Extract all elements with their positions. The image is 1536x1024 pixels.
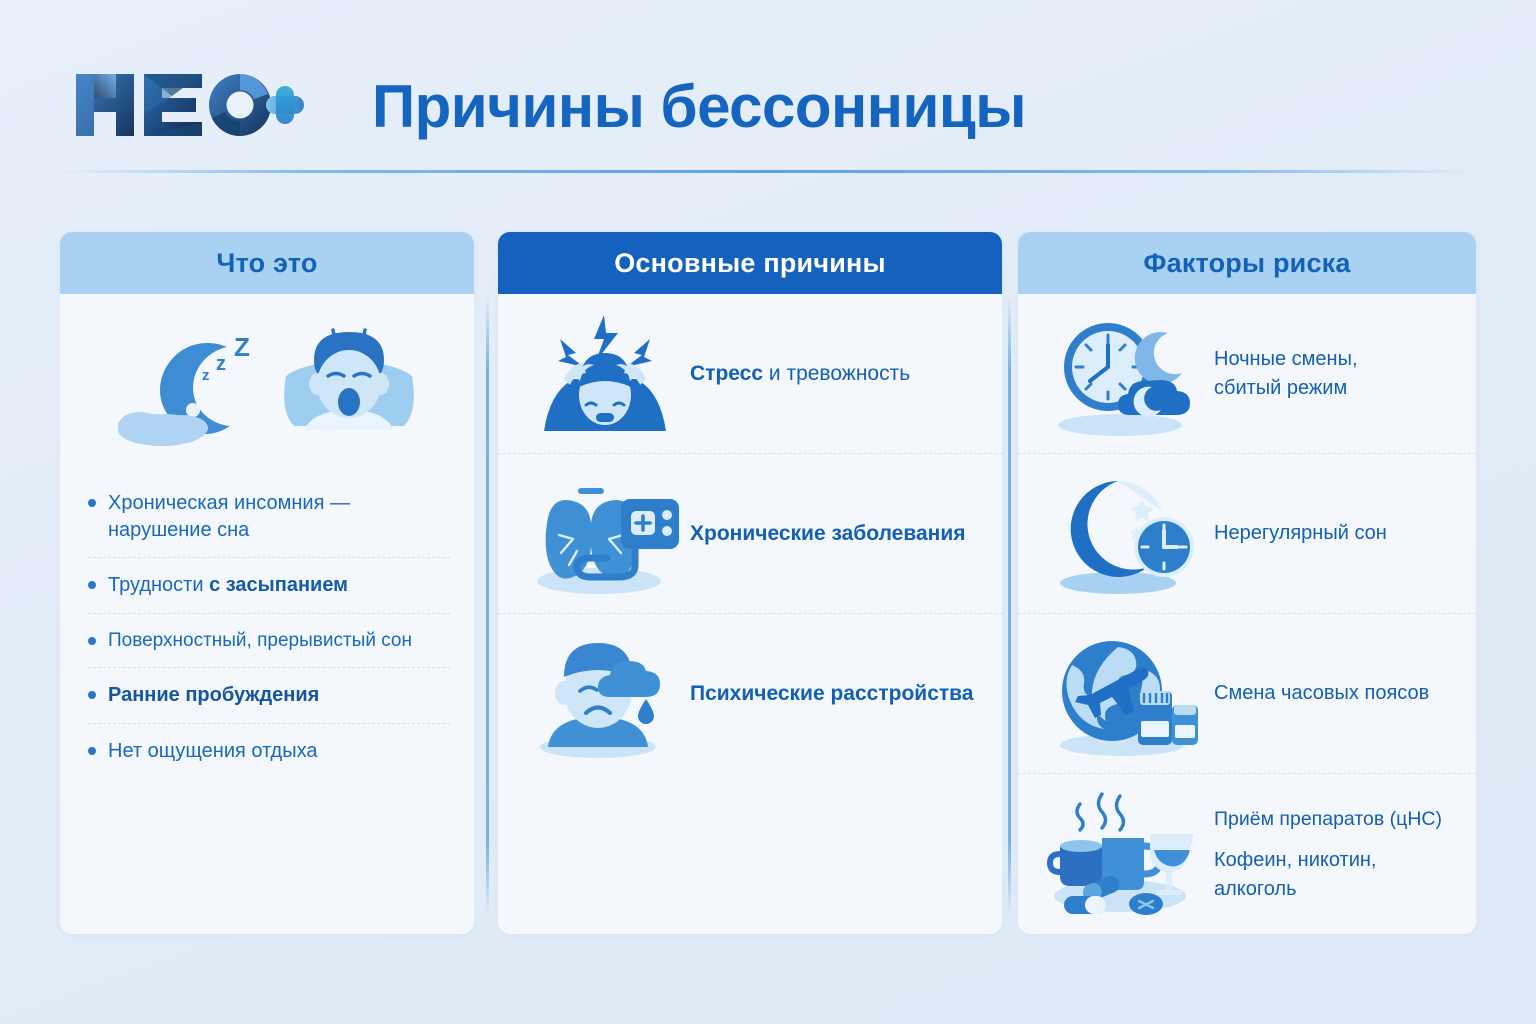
card-what-is-heading: Что это [60, 232, 474, 294]
bullet-label: Хроническая инсомния — нарушение сна [108, 490, 448, 543]
list-item: Хроническая инсомния — нарушение сна [88, 476, 450, 558]
risk-label: Смена часовых поясов [1214, 679, 1429, 707]
cause-item-stress: Стресс и тревожность [498, 294, 1002, 454]
card-risk-factors: Факторы риска Ноч [1018, 232, 1476, 934]
bullet-dot-icon [88, 499, 96, 507]
clock-moon-icon [1038, 305, 1214, 443]
globe-plane-pills-icon [1038, 625, 1214, 763]
card-what-is-body: Z z z Хроническая инсомн [60, 294, 474, 778]
card-main-causes-body: Стресс и тревожность [498, 294, 1002, 774]
what-is-bullet-list: Хроническая инсомния — нарушение сна Тру… [60, 472, 474, 778]
bullet-label: Трудности с засыпанием [108, 572, 348, 599]
coffee-wine-pills-icon [1038, 785, 1214, 923]
cause-label: Психические расстройства [690, 680, 973, 707]
page-title: Причины бессонницы [372, 56, 1132, 156]
brand-logo [72, 66, 304, 144]
risk-item-irregular-sleep: Нерегулярный сон [1018, 454, 1476, 614]
page-header: Причины бессонницы [0, 0, 1536, 172]
bullet-label: Нет ощущения отдыха [108, 738, 318, 765]
yawning-person-icon [274, 318, 424, 448]
risk-item-night-shifts: Ночные смены,сбитый режим [1018, 294, 1476, 454]
card-risk-factors-body: Ночные смены,сбитый режим [1018, 294, 1476, 934]
lungs-blood-pressure-icon [520, 464, 690, 604]
risk-item-timezone-change: Смена часовых поясов [1018, 614, 1476, 774]
cause-item-chronic-disease: Хронические заболевания [498, 454, 1002, 614]
card-risk-factors-heading: Факторы риска [1018, 232, 1476, 294]
svg-text:z: z [202, 367, 210, 384]
risk-label: Нерегулярный сон [1214, 519, 1387, 547]
svg-text:Z: Z [234, 332, 250, 362]
cause-item-mental-disorders: Психические расстройства [498, 614, 1002, 774]
cause-label: Хронические заболевания [690, 520, 965, 547]
bullet-dot-icon [88, 691, 96, 699]
risk-label: Приём препаратов (цНС) Кофеин, никотин, … [1214, 805, 1442, 903]
bullet-dot-icon [88, 637, 96, 645]
list-item: Трудности с засыпанием [88, 558, 450, 614]
hero-icon-group: Z z z [60, 294, 474, 472]
stress-headache-icon [520, 304, 690, 444]
header-divider [60, 170, 1476, 173]
column-divider-1 [486, 296, 489, 916]
svg-text:z: z [216, 353, 226, 375]
bullet-dot-icon [88, 747, 96, 755]
card-main-causes: Основные причины Стре [498, 232, 1002, 934]
list-item: Нет ощущения отдыха [88, 724, 450, 779]
card-what-is: Что это Z z z [60, 232, 474, 934]
list-item: Ранние пробуждения [88, 668, 450, 724]
crescent-stars-clock-icon [1038, 465, 1214, 603]
risk-item-substances: Приём препаратов (цНС) Кофеин, никотин, … [1018, 774, 1476, 934]
list-item: Поверхностный, прерывистый сон [88, 614, 450, 668]
column-divider-2 [1008, 296, 1011, 916]
sleeping-moon-icon: Z z z [110, 318, 260, 448]
card-main-causes-heading: Основные причины [498, 232, 1002, 294]
bullet-label: Ранние пробуждения [108, 682, 319, 709]
cause-label: Стресс и тревожность [690, 360, 910, 387]
risk-label: Ночные смены,сбитый режим [1214, 345, 1358, 402]
sad-person-raincloud-icon [520, 624, 690, 764]
bullet-label: Поверхностный, прерывистый сон [108, 628, 412, 653]
bullet-dot-icon [88, 581, 96, 589]
